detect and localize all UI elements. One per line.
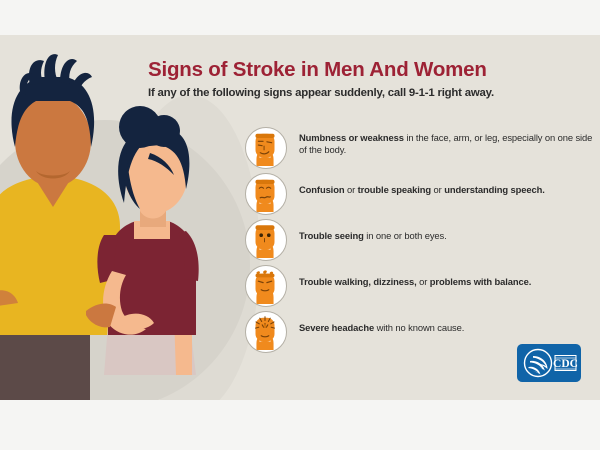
man-figure bbox=[0, 54, 120, 400]
sign-item: Numbness or weakness in the face, arm, o… bbox=[245, 127, 595, 173]
poster-canvas: Signs of Stroke in Men And Women If any … bbox=[0, 35, 600, 400]
sign-text-bold: understanding speech. bbox=[444, 184, 545, 195]
sign-item: Confusion or trouble speaking or underst… bbox=[245, 173, 595, 219]
sign-text-bold: problems with balance. bbox=[430, 276, 531, 287]
sign-text: Trouble seeing in one or both eyes. bbox=[299, 219, 447, 242]
woman-hair-bun-secondary bbox=[148, 115, 180, 147]
man-pants bbox=[0, 327, 90, 400]
sign-text-bold: Trouble seeing bbox=[299, 230, 364, 241]
sign-text-bold: Confusion bbox=[299, 184, 344, 195]
man-hair-tuft-2 bbox=[44, 54, 58, 81]
headings-block: Signs of Stroke in Men And Women If any … bbox=[148, 59, 588, 99]
sign-item: Trouble seeing in one or both eyes. bbox=[245, 219, 595, 265]
sign-text: Confusion or trouble speaking or underst… bbox=[299, 173, 545, 196]
face-vision-icon bbox=[245, 219, 287, 261]
sign-text-normal: or bbox=[344, 184, 357, 195]
face-confusion-icon bbox=[245, 173, 287, 215]
face-numbness-icon bbox=[245, 127, 287, 169]
sign-text-normal: in one or both eyes. bbox=[364, 230, 447, 241]
sign-text-bold: Trouble walking, dizziness, bbox=[299, 276, 417, 287]
sign-text: Severe headache with no known cause. bbox=[299, 311, 464, 334]
sign-text-bold: Numbness or weakness bbox=[299, 132, 404, 143]
page-title: Signs of Stroke in Men And Women bbox=[148, 59, 588, 82]
cdc-logo[interactable]: CDC bbox=[517, 344, 581, 382]
sign-text: Numbness or weakness in the face, arm, o… bbox=[299, 127, 595, 157]
man-hair-tuft-1 bbox=[29, 60, 44, 85]
sign-text-bold: trouble speaking bbox=[358, 184, 431, 195]
sign-text-bold: Severe headache bbox=[299, 322, 374, 333]
hhs-bird-symbol bbox=[525, 350, 552, 377]
sign-item: Trouble walking, dizziness, or problems … bbox=[245, 265, 595, 311]
sign-text: Trouble walking, dizziness, or problems … bbox=[299, 265, 531, 288]
cdc-wordmark: CDC bbox=[553, 356, 578, 371]
sign-text-normal: or bbox=[417, 276, 430, 287]
sign-text-normal: or bbox=[431, 184, 444, 195]
sign-text-normal: with no known cause. bbox=[374, 322, 464, 333]
stroke-signs-list: Numbness or weakness in the face, arm, o… bbox=[245, 127, 595, 357]
cdc-logo-text: CDC bbox=[553, 358, 578, 370]
face-headache-icon bbox=[245, 311, 287, 353]
page-subtitle: If any of the following signs appear sud… bbox=[148, 87, 588, 99]
face-dizziness-icon bbox=[245, 265, 287, 307]
